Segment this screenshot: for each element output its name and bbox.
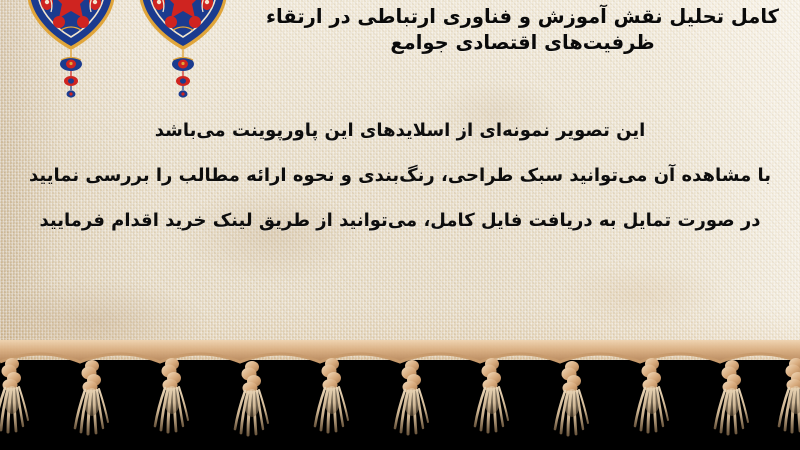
slide-body: این تصویر نمونه‌ای از اسلایدهای این پاور…: [10, 108, 790, 243]
carpet-fringe-svg: [0, 336, 800, 450]
body-line-2: با مشاهده آن می‌توانید سبک طراحی، رنگ‌بن…: [10, 153, 790, 198]
title-line-2: ظرفیت‌های اقتصادی جوامع: [255, 30, 790, 56]
title-line-1: کامل تحلیل نقش آموزش و فناوری ارتباطی در…: [255, 4, 790, 30]
carpet-medallion-ornaments-svg: [0, 0, 250, 101]
ornament-group: [0, 0, 250, 101]
ornament-medallion-right: [139, 0, 227, 98]
carpet-fringe: [0, 336, 800, 450]
body-line-1: این تصویر نمونه‌ای از اسلایدهای این پاور…: [10, 108, 790, 153]
slide-title: کامل تحلیل نقش آموزش و فناوری ارتباطی در…: [255, 4, 790, 56]
body-line-3: در صورت تمایل به دریافت فایل کامل، می‌تو…: [10, 198, 790, 243]
slide-canvas: کامل تحلیل نقش آموزش و فناوری ارتباطی در…: [0, 0, 800, 450]
ornament-medallion-left: [27, 0, 115, 98]
